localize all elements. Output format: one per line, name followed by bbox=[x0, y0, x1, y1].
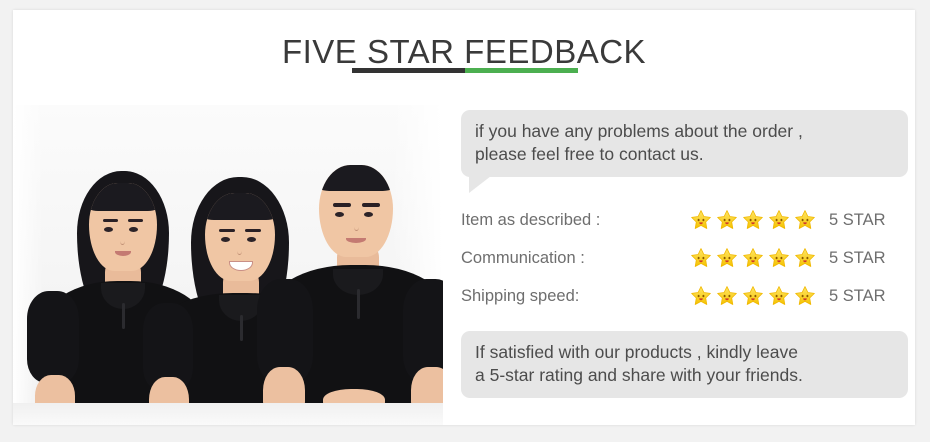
right-man-nose bbox=[354, 223, 359, 231]
rating-value: 5 STAR bbox=[819, 249, 886, 268]
rating-row-item-as-described: Item as described : bbox=[461, 201, 908, 239]
star-icon bbox=[741, 208, 765, 232]
speech-bubble-tail bbox=[469, 176, 491, 193]
star-icon bbox=[715, 208, 739, 232]
team-photo bbox=[13, 105, 443, 425]
bubble-bottom-line2: a 5-star rating and share with your frie… bbox=[475, 364, 894, 387]
bubble-bottom-line1: If satisfied with our products , kindly … bbox=[475, 341, 894, 364]
star-icon bbox=[741, 284, 765, 308]
star-icon bbox=[793, 246, 817, 270]
feedback-banner: FIVE STAR FEEDBACK bbox=[0, 0, 930, 442]
rating-label: Communication : bbox=[461, 249, 689, 268]
star-icon bbox=[715, 284, 739, 308]
rating-value: 5 STAR bbox=[819, 211, 886, 230]
right-man-placket bbox=[357, 289, 360, 319]
rating-value: 5 STAR bbox=[819, 287, 886, 306]
right-man-head bbox=[319, 165, 393, 257]
center-woman-eye-left bbox=[221, 237, 230, 242]
rating-label: Item as described : bbox=[461, 211, 689, 230]
right-man-brow-left bbox=[333, 203, 351, 207]
rating-row-shipping-speed: Shipping speed: bbox=[461, 277, 908, 315]
right-man-mouth bbox=[346, 238, 366, 243]
feedback-content: if you have any problems about the order… bbox=[448, 110, 903, 398]
star-icon bbox=[767, 246, 791, 270]
star-icon bbox=[767, 208, 791, 232]
right-man-brow-right bbox=[362, 203, 380, 207]
star-icon bbox=[793, 208, 817, 232]
left-woman-brow-right bbox=[128, 219, 143, 222]
person-right-man bbox=[261, 137, 443, 425]
center-woman-brow-right bbox=[245, 229, 261, 232]
star-icon bbox=[689, 208, 713, 232]
title-underline bbox=[352, 68, 578, 73]
title-underline-dark bbox=[352, 68, 465, 73]
left-woman-placket bbox=[122, 303, 125, 329]
star-icon bbox=[793, 284, 817, 308]
right-man-eye-left bbox=[335, 212, 344, 217]
rating-row-communication: Communication : bbox=[461, 239, 908, 277]
star-rating-item-as-described bbox=[689, 208, 819, 232]
star-icon bbox=[767, 284, 791, 308]
star-rating-communication bbox=[689, 246, 819, 270]
right-man-hair bbox=[319, 165, 393, 191]
rating-label: Shipping speed: bbox=[461, 287, 689, 306]
left-woman-mouth bbox=[115, 251, 131, 256]
star-icon bbox=[689, 246, 713, 270]
bubble-top-line2: please feel free to contact us. bbox=[475, 143, 894, 166]
bubble-top-line1: if you have any problems about the order… bbox=[475, 120, 894, 143]
center-woman-eye-right bbox=[247, 237, 256, 242]
center-woman-placket bbox=[240, 315, 243, 341]
star-rating-shipping-speed bbox=[689, 284, 819, 308]
photo-counter-surface bbox=[13, 403, 443, 425]
content-card: FIVE STAR FEEDBACK bbox=[13, 10, 915, 425]
ratings-list: Item as described : bbox=[461, 201, 908, 315]
title-underline-green bbox=[465, 68, 578, 73]
left-woman-eye-left bbox=[104, 227, 113, 232]
star-icon bbox=[689, 284, 713, 308]
center-woman-nose bbox=[237, 247, 242, 255]
star-icon bbox=[741, 246, 765, 270]
left-woman-sleeve-left bbox=[27, 291, 79, 383]
center-woman-brow-left bbox=[219, 229, 235, 232]
speech-bubble-bottom: If satisfied with our products , kindly … bbox=[461, 331, 908, 398]
center-woman-mouth bbox=[229, 261, 253, 271]
left-woman-eye-right bbox=[129, 227, 138, 232]
left-woman-nose bbox=[120, 237, 125, 245]
right-man-eye-right bbox=[364, 212, 373, 217]
left-woman-brow-left bbox=[103, 219, 118, 222]
speech-bubble-top: if you have any problems about the order… bbox=[461, 110, 908, 177]
star-icon bbox=[715, 246, 739, 270]
